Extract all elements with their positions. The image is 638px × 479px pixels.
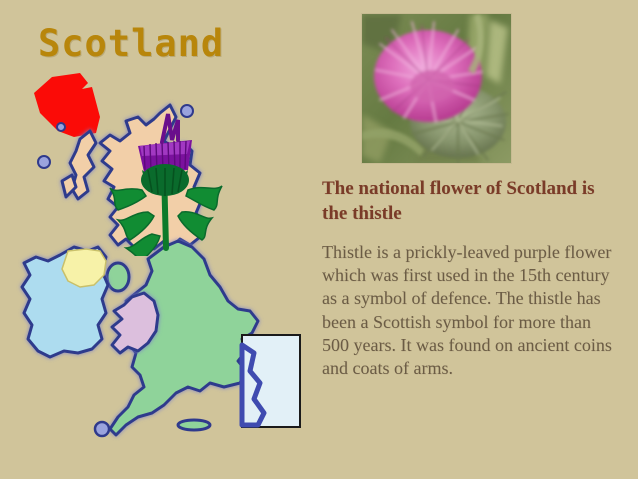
text-column: The national flower of Scotland is the t… bbox=[322, 176, 622, 381]
page-title: Scotland bbox=[38, 22, 224, 65]
map-inset-box bbox=[242, 335, 300, 427]
thistle-clipart bbox=[108, 108, 224, 256]
map-isle-of-man bbox=[107, 263, 129, 291]
slide-canvas: Scotland bbox=[0, 0, 638, 479]
map-western-isles bbox=[62, 131, 96, 199]
thistle-head bbox=[138, 114, 192, 172]
subheading: The national flower of Scotland is the t… bbox=[322, 176, 622, 227]
thistle-photograph bbox=[361, 13, 512, 164]
thistle-calyx bbox=[141, 164, 189, 196]
body-paragraph: Thistle is a prickly-leaved purple flowe… bbox=[322, 241, 622, 381]
